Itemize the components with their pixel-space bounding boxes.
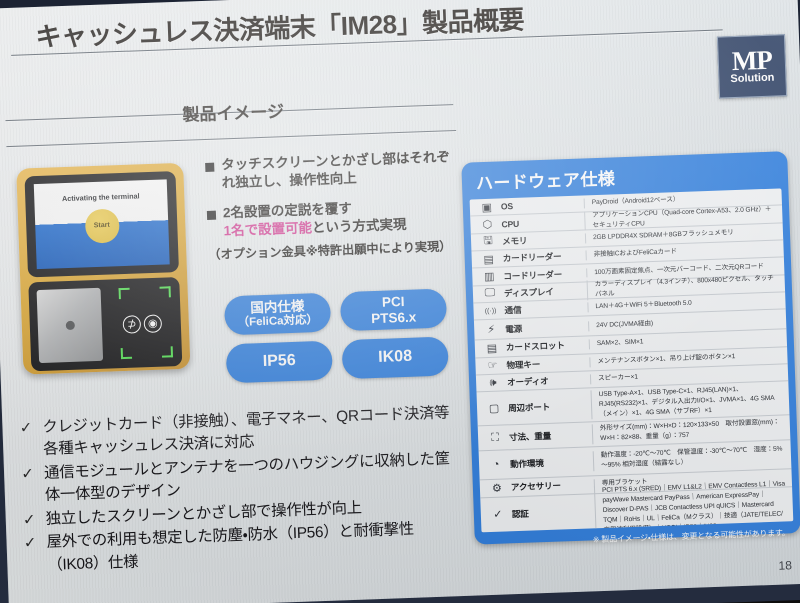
environment-icon: ◔ [485,459,507,472]
accessory-icon: ⚙ [486,481,508,495]
power-plug-icon: ⚡ [480,323,502,337]
spec-label: カードスロット [503,339,589,354]
cpu-icon: ⬡ [476,218,498,232]
badge-ik08-label: IK08 [378,348,412,368]
device-screen-bezel: Activating the terminal Start [24,171,179,277]
projection-screen-frame: キャッシュレス決済端末「IM28」製品概要 製品イメージ MP Solution… [0,0,800,603]
spec-label: コードリーダー [500,267,586,282]
slide-photo: キャッシュレス決済端末「IM28」製品概要 製品イメージ MP Solution… [0,0,800,603]
badge-domestic-spec: 国内仕様 （FeliCa対応） [224,293,331,336]
memory-icon: 🖫 [477,232,500,252]
ports-icon: ▢ [483,402,505,416]
device-glyph-group: ⊅ ◉ [123,314,163,333]
card-reader-icon: ▤ [478,252,500,266]
spec-label: 物理キー [503,356,589,371]
card-slot-icon: ▤ [481,341,503,355]
feature-item-1: タッチスクリーンとかざし部はそれぞれ独立し、操作性向上 [205,148,454,193]
badge-pci-line1: PCI [382,294,405,311]
feature-highlight-rest: という方式実現 [312,217,407,235]
display-icon: 🖵 [479,287,501,301]
scan-corner-bottom-right-icon [162,346,173,357]
spec-label: アクセサリー [508,479,594,494]
check-icon: ✓ [18,417,35,462]
spec-label: 認証 [509,505,595,520]
device-pad-sensor-icon [65,321,74,330]
nfc-wave-icon: ⊅ [123,315,142,334]
scan-corner-top-right-icon [160,286,171,297]
badge-ip56: IP56 [226,341,333,384]
spec-label: カードリーダー [500,250,586,265]
page-title: キャッシュレス決済端末「IM28」製品概要 [35,0,696,56]
badge-pci: PCI PTS6.x [340,288,447,331]
spec-value: 外形サイズ(mm)：W×H×D：120×133×50 取付設置窓(mm)：W×H… [592,418,785,445]
spec-label: オーディオ [504,373,590,388]
logo-mark: MP [731,47,772,73]
mp-solution-logo: MP Solution [717,34,787,98]
benefit-checklist: ✓ クレジットカード（非接触）、電子マネー、QRコード決済等各種キャッシュレス決… [18,402,463,579]
scan-corner-bottom-left-icon [121,348,132,359]
badge-ik08: IK08 [342,336,449,379]
presentation-slide: キャッシュレス決済端末「IM28」製品概要 製品イメージ MP Solution… [0,0,800,603]
spec-label: メモリ [499,232,585,247]
device-screen-text: Activating the terminal [34,190,167,204]
spec-label: OS [498,199,584,212]
speaker-icon: 🕪 [482,376,504,390]
antenna-icon: ((·)) [479,307,501,315]
check-icon: ✓ [22,533,39,578]
device-start-button: Start [84,208,119,243]
spec-value: 動作温度：-20℃～70℃ 保管温度：-30℃～70℃ 湿度：5%～95% 相対… [593,445,786,472]
spec-label: 動作環境 [507,456,593,471]
spec-label: 電源 [502,320,588,335]
logo-wordmark: Solution [730,72,774,86]
product-image-terminal: Activating the terminal Start ⊅ ◉ [16,163,190,375]
spec-label: CPU [498,216,584,229]
dimensions-icon: ⛶ [484,431,506,445]
device-screen: Activating the terminal Start [34,179,170,269]
badge-domestic-line1: 国内仕様 [250,298,305,316]
feature-item-2: 2名設置の定説を覆す 1名で設置可能という方式実現 [207,196,456,241]
hardware-spec-table: ▣OSPayDroid（Android12ベース）⬡CPUアプリケーションCPU… [470,188,794,532]
square-bullet-icon [205,163,214,172]
square-bullet-icon [207,211,216,220]
spec-label: 寸法、重量 [506,429,592,444]
badge-ip56-label: IP56 [262,352,296,372]
section-subtitle: 製品イメージ [182,97,285,126]
spec-label: 通信 [501,302,587,317]
page-number: 18 [778,558,792,572]
spec-label: 周辺ポート [505,399,591,414]
device-contactless-pad [37,288,104,363]
subtitle-divider-bottom [6,130,456,147]
spec-value: 24V DC(JVMA経由) [588,314,780,331]
scan-corner-top-left-icon [119,288,130,299]
press-button-icon: ☞ [481,359,503,373]
feature-footnote: （オプション金具※特許出願中により実現） [208,236,456,263]
certification-icon: ✓ [487,508,509,522]
hardware-spec-panel: ハードウェア仕様 ▣OSPayDroid（Android12ベース）⬡CPUアプ… [461,151,800,544]
feature-list: タッチスクリーンとかざし部はそれぞれ独立し、操作性向上 2名設置の定説を覆す 1… [205,148,457,263]
feature-item-2-body: 2名設置の定説を覆す 1名で設置可能という方式実現 [223,198,407,241]
device-reader-area: ⊅ ◉ [28,277,182,371]
feature-highlight-emphasis: 1名で設置可能 [223,220,312,238]
check-icon: ✓ [20,463,37,508]
code-reader-icon: ▥ [478,270,500,284]
os-chip-icon: ▣ [476,200,498,214]
badge-pci-line2: PTS6.x [371,309,417,327]
certification-badge-group: 国内仕様 （FeliCa対応） PCI PTS6.x IP56 IK08 [224,288,449,383]
check-icon: ✓ [21,509,37,532]
feature-item-1-text: タッチスクリーンとかざし部はそれぞれ独立し、操作性向上 [221,148,454,192]
spec-value: USB Type-A×1、USB Type-C×1、RJ45(LAN)×1、RJ… [590,383,783,420]
spec-label: ディスプレイ [501,284,587,299]
badge-domestic-line2: （FeliCa対応） [237,314,318,330]
contactless-card-icon: ◉ [143,314,162,333]
